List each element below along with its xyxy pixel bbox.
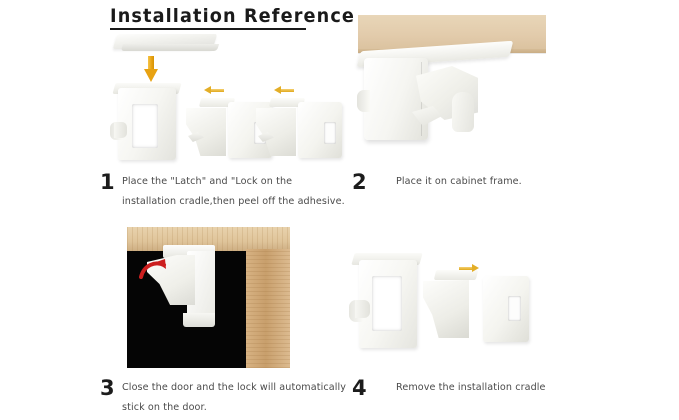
latch-part-installed [423,268,529,348]
left-arrow-icon-right [274,86,294,94]
lock-body [364,58,428,140]
left-arrow-icon-center [204,86,224,94]
step-4-number: 4 [352,378,374,398]
step-1-figure-exploded-parts [100,30,340,165]
red-curved-arrow-icon [139,259,169,281]
installation-reference-page: Installation Reference [0,0,679,420]
step-4-text: Remove the installation cradle [396,378,546,398]
step-4-figure-remove-cradle [355,250,565,365]
step-2-caption: 2 Place it on cabinet frame. [352,172,612,192]
right-arrow-icon [459,264,479,272]
page-title: Installation Reference [110,5,355,27]
page-title-block: Installation Reference [110,5,373,30]
adhesive-strip-underside [121,44,219,51]
lock-foot [183,313,215,327]
down-arrow-icon [144,56,158,82]
latch-post [452,92,474,132]
step-3-figure-door-closing [127,227,290,368]
step-1-text: Place the "Latch" and "Lock on the insta… [122,172,345,212]
step-2-number: 2 [352,172,374,192]
step-3-text: Close the door and the lock will automat… [122,378,346,418]
lock-assembly [360,46,520,156]
step-2-text: Place it on cabinet frame. [396,172,522,192]
step-1-number: 1 [100,172,122,192]
step-4-caption: 4 Remove the installation cradle [352,378,612,398]
step-2-figure-mounted-on-frame [350,8,600,166]
step-1-caption: 1 Place the "Latch" and "Lock on the ins… [100,172,350,212]
cabinet-door-wood-panel [246,249,290,368]
step-3-number: 3 [100,378,122,398]
step-3-caption: 3 Close the door and the lock will autom… [100,378,360,418]
latch-part-right [256,102,342,162]
